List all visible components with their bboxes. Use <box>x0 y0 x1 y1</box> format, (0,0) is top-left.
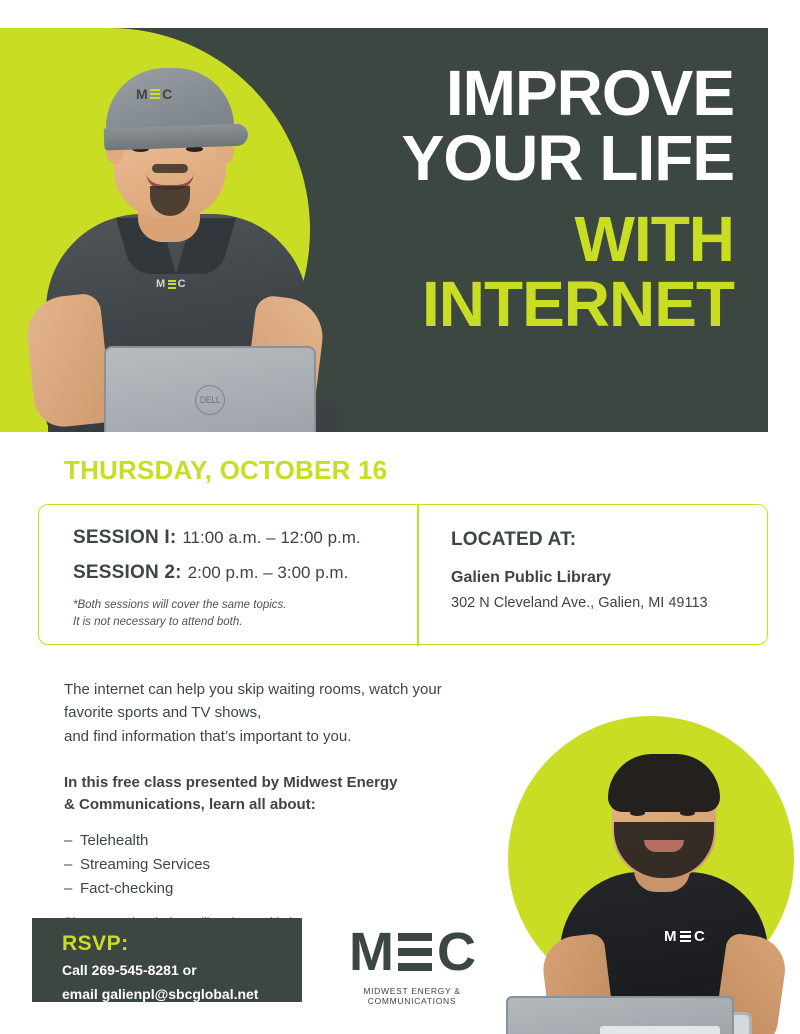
person-two-hair <box>608 754 720 812</box>
person-two-figure: M C <box>546 740 778 1034</box>
session-2-label: SESSION 2: <box>73 562 182 584</box>
person-two-photo: M C <box>500 712 800 1034</box>
person-two-mouth <box>644 840 684 852</box>
mec-logo-on-cap: M C <box>136 86 173 102</box>
lead-line-1: In this free class presented by Midwest … <box>64 772 494 795</box>
topic-label: Fact-checking <box>80 880 173 897</box>
mec-logo-on-polo: M C <box>156 278 186 290</box>
flyer-page: M C M C DELL IMPROVE YOUR LIFE WITH INTE… <box>0 0 800 1034</box>
lead-line-2: & Communications, learn all about: <box>64 794 494 817</box>
bullet-dash-icon: – <box>64 829 80 853</box>
sessions-note-line-1: *Both sessions will cover the same topic… <box>73 597 417 614</box>
body-copy: The internet can help you skip waiting r… <box>64 678 494 949</box>
location-title: LOCATED AT: <box>451 529 767 551</box>
intro-line-2: and find information that’s important to… <box>64 725 494 748</box>
event-date: THURSDAY, OCTOBER 16 <box>64 455 387 486</box>
headline-line-4: INTERNET <box>314 275 734 334</box>
session-1-label: SESSION I: <box>73 527 176 549</box>
person-one-photo: M C M C DELL <box>28 46 328 432</box>
topic-label: Telehealth <box>80 832 148 849</box>
person-one-arm-left <box>23 292 112 429</box>
lead-paragraph: In this free class presented by Midwest … <box>64 772 494 817</box>
rsvp-box: RSVP: Call 269-545-8281 or email galienp… <box>32 918 302 1002</box>
topic-label: Streaming Services <box>80 856 210 873</box>
laptop-brand-badge: DELL <box>195 385 225 415</box>
headline-line-1: IMPROVE <box>314 64 734 123</box>
intro-line-1: The internet can help you skip waiting r… <box>64 678 494 725</box>
rsvp-email-line: email galienpl@sbcglobal.net <box>62 984 302 1004</box>
mec-logo-tagline: MIDWEST ENERGY & COMMUNICATIONS <box>332 986 492 1006</box>
rsvp-phone-line: Call 269-545-8281 or <box>62 960 302 980</box>
session-row: SESSION I: 11:00 a.m. – 12:00 p.m. <box>73 527 417 549</box>
cap-logo-c: C <box>162 86 173 102</box>
location-address: 302 N Cleveland Ave., Galien, MI 49113 <box>451 595 767 611</box>
mec-logo-mark: M C <box>332 925 492 979</box>
session-row: SESSION 2: 2:00 p.m. – 3:00 p.m. <box>73 562 417 584</box>
mec-logo-c: C <box>437 925 475 979</box>
sessions-panel: SESSION I: 11:00 a.m. – 12:00 p.m. SESSI… <box>39 505 417 644</box>
bullet-dash-icon: – <box>64 853 80 877</box>
hero-headline-group: IMPROVE YOUR LIFE WITH INTERNET <box>314 64 734 334</box>
headline-line-2: YOUR LIFE <box>314 129 734 188</box>
mec-logo-on-tshirt: M C <box>664 928 705 945</box>
list-item: –Fact-checking <box>64 877 494 901</box>
tshirt-logo-e-bars-icon <box>680 931 691 943</box>
session-1-time: 11:00 a.m. – 12:00 p.m. <box>182 528 360 548</box>
intro-paragraph: The internet can help you skip waiting r… <box>64 678 494 748</box>
sessions-note-line-2: It is not necessary to attend both. <box>73 614 417 631</box>
person-two-eye-left <box>630 810 645 816</box>
mec-logo-e-bars-icon <box>398 933 432 971</box>
location-venue: Galien Public Library <box>451 569 767 587</box>
tshirt-logo-c: C <box>694 928 705 945</box>
topics-list: –Telehealth –Streaming Services –Fact-ch… <box>64 829 494 901</box>
mec-logo-m: M <box>349 925 393 979</box>
polo-logo-e-bars-icon <box>168 280 176 289</box>
headline-line-3: WITH <box>314 210 734 269</box>
polo-logo-m: M <box>156 278 166 290</box>
bullet-dash-icon: – <box>64 877 80 901</box>
person-two-eye-right <box>680 810 695 816</box>
page-bottom-edge <box>600 1026 720 1034</box>
hero-banner: M C M C DELL IMPROVE YOUR LIFE WITH INTE… <box>0 28 768 432</box>
laptop-one: DELL <box>104 346 316 432</box>
session-2-time: 2:00 p.m. – 3:00 p.m. <box>188 563 349 583</box>
list-item: –Streaming Services <box>64 853 494 877</box>
rsvp-title: RSVP: <box>62 932 302 956</box>
cap-logo-e-bars-icon <box>150 89 160 99</box>
list-item: –Telehealth <box>64 829 494 853</box>
event-details-box: SESSION I: 11:00 a.m. – 12:00 p.m. SESSI… <box>38 504 768 645</box>
cap-logo-m: M <box>136 86 148 102</box>
details-divider <box>417 505 419 646</box>
tshirt-logo-m: M <box>664 928 677 945</box>
polo-logo-c: C <box>178 278 186 290</box>
sessions-note: *Both sessions will cover the same topic… <box>73 597 417 630</box>
location-panel: LOCATED AT: Galien Public Library 302 N … <box>417 505 767 644</box>
mec-brand-logo: M C MIDWEST ENERGY & COMMUNICATIONS <box>332 925 492 1006</box>
